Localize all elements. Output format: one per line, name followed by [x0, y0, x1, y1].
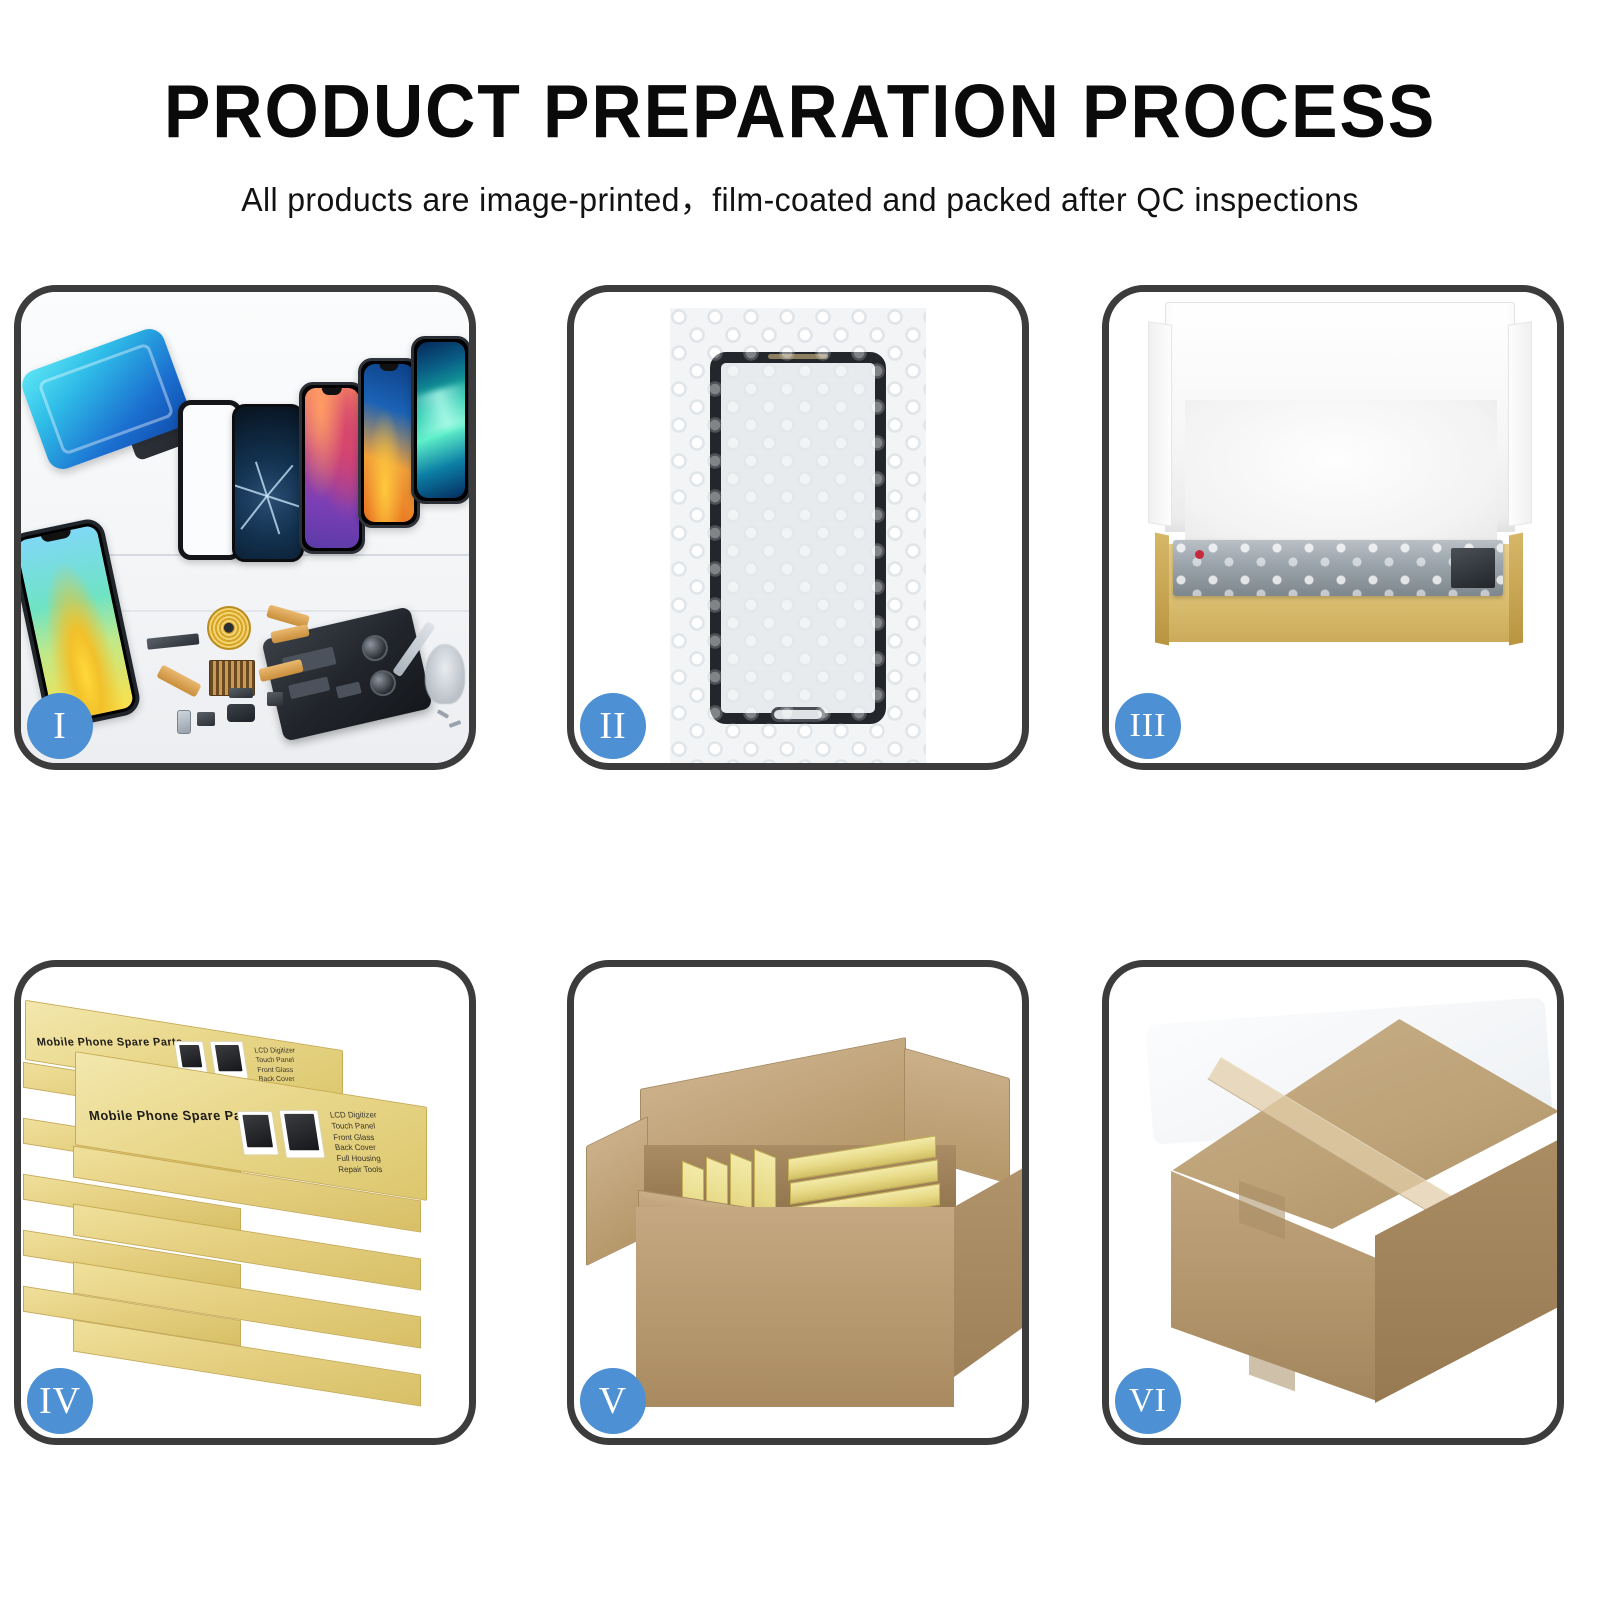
part-sim-tray [177, 710, 191, 734]
part-vibrator [229, 688, 253, 698]
tool-brush [425, 644, 465, 704]
screen-connector [1451, 548, 1495, 588]
step-panel-1: I [14, 285, 476, 770]
inner-box-photo [1109, 292, 1557, 763]
checklist-item: Full Housing [336, 1154, 384, 1165]
part-speaker [227, 704, 255, 722]
steps-grid: I II [14, 285, 1586, 1445]
step-panel-5: V [567, 960, 1029, 1445]
retail-box-window [237, 1111, 279, 1156]
step-panel-6: VI [1102, 960, 1564, 1445]
retail-box-checklist: LCD Digitizer Touch Panel Front Glass Ba… [329, 1110, 386, 1176]
parts-collage-photo [21, 292, 469, 763]
checklist-item: LCD Digitizer [329, 1110, 377, 1121]
checklist-item: Front Glass [257, 1066, 299, 1076]
phone-aurora [411, 336, 469, 504]
retail-box-window [278, 1110, 325, 1159]
step-badge-4: IV [27, 1368, 93, 1434]
bubble-wrap-photo [574, 292, 1022, 763]
step-badge-5: V [580, 1368, 646, 1434]
retail-box-brand-label: Mobile Phone Spare Parts [36, 1036, 184, 1048]
phone-purple [299, 382, 365, 554]
step-panel-2: II [567, 285, 1029, 770]
step-panel-3: III [1102, 285, 1564, 770]
checklist-item: Front Glass [333, 1132, 381, 1143]
carton-body [636, 1207, 954, 1407]
checklist-item: Touch Panel [255, 1056, 297, 1066]
retail-box-stack-photo: Mobile Phone Spare Parts LCD Digitizer T… [21, 967, 469, 1438]
step-badge-6: VI [1115, 1368, 1181, 1434]
phone-screen [417, 342, 465, 498]
header: PRODUCT PREPARATION PROCESS All products… [0, 0, 1600, 221]
page-subtitle: All products are image-printed，film-coat… [24, 173, 1576, 221]
phone-screen [364, 364, 414, 522]
checklist-item: Repair Tools [338, 1165, 386, 1176]
step-badge-1: I [27, 693, 93, 759]
step-panel-4: Mobile Phone Spare Parts LCD Digitizer T… [14, 960, 476, 1445]
infographic-page: PRODUCT PREPARATION PROCESS All products… [0, 0, 1600, 1600]
checklist-item: Touch Panel [331, 1121, 379, 1132]
cracked-screen-dark [232, 404, 304, 562]
phone-screen [305, 388, 359, 548]
checklist-item: LCD Digitizer [254, 1047, 296, 1057]
carton-side [954, 1163, 1022, 1377]
checklist-item: Back Cover [334, 1143, 382, 1154]
step-badge-3: III [1115, 693, 1181, 759]
step-badge-2: II [580, 693, 646, 759]
part-wireless-coil [207, 606, 251, 650]
carton-open-photo [574, 967, 1022, 1438]
wrapped-screen-in-box [1173, 540, 1503, 596]
foam-insert [1185, 400, 1497, 548]
carton-sealed-photo [1109, 967, 1557, 1438]
red-sticker [1195, 550, 1204, 559]
part-button [197, 712, 215, 726]
bubble-texture-overlay [670, 308, 926, 763]
retail-box-brand-label: Mobile Phone Spare Parts [88, 1108, 261, 1123]
page-title: PRODUCT PREPARATION PROCESS [56, 74, 1544, 149]
bubble-sheet [670, 308, 926, 763]
part-camera-module [267, 692, 283, 706]
